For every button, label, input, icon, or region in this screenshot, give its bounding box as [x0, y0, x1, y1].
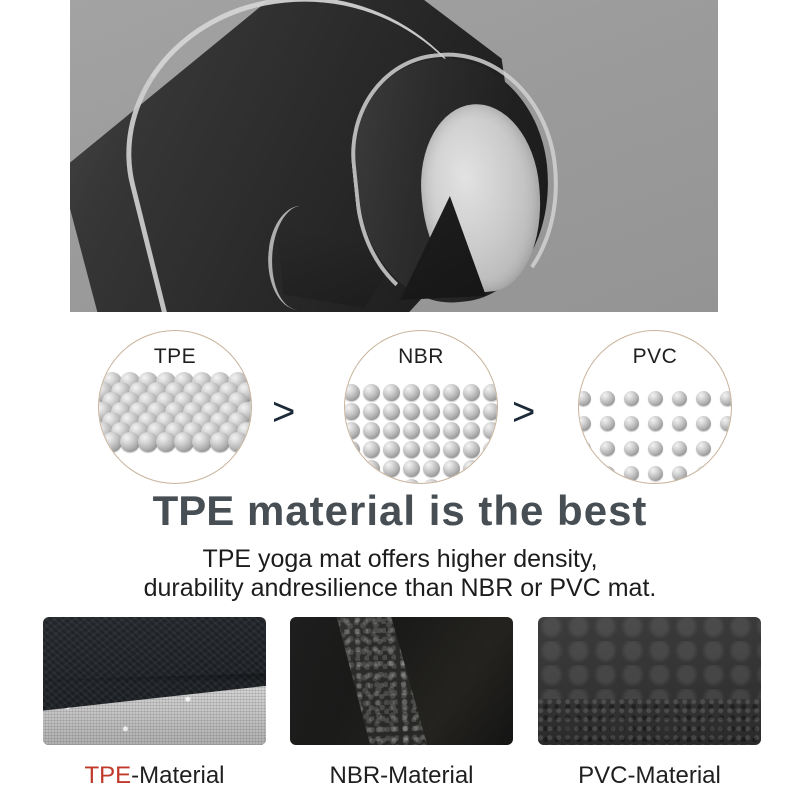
density-sphere — [463, 422, 480, 439]
density-sphere — [483, 460, 499, 477]
density-comparison-row: TPE > NBR > PVC — [0, 330, 800, 488]
density-sphere — [443, 422, 460, 439]
density-sphere — [672, 416, 687, 431]
sphere-row — [99, 435, 251, 449]
sphere-row — [345, 459, 497, 478]
density-sphere — [696, 441, 711, 456]
comparison-chevron-icon-1: > — [272, 392, 295, 432]
sphere-row — [579, 412, 731, 435]
sphere-row — [579, 462, 731, 484]
material-caption-pvc: PVC-Material — [538, 762, 761, 790]
density-sphere — [463, 403, 480, 420]
density-sphere — [648, 416, 663, 431]
sphere-row — [579, 387, 731, 410]
density-sphere — [483, 479, 499, 484]
material-caption-tpe-accent: TPE — [84, 762, 131, 789]
density-sphere — [403, 441, 420, 458]
density-sphere — [672, 466, 687, 481]
density-sphere — [463, 479, 480, 484]
density-sphere — [624, 416, 639, 431]
density-sphere — [720, 441, 733, 456]
material-caption-tpe: TPE-Material — [43, 762, 266, 790]
density-sphere — [403, 422, 420, 439]
density-sphere — [600, 466, 615, 481]
density-sphere — [403, 384, 420, 401]
density-sphere — [344, 460, 360, 477]
density-sphere — [363, 441, 380, 458]
headline-rest: material is the best — [247, 487, 647, 534]
density-circle-label-pvc: PVC — [579, 345, 731, 369]
density-sphere — [600, 416, 615, 431]
density-sphere — [443, 384, 460, 401]
density-sphere — [600, 391, 615, 406]
density-sphere — [696, 416, 711, 431]
density-sphere — [696, 391, 711, 406]
density-sphere — [383, 460, 400, 477]
density-sphere — [600, 441, 615, 456]
density-sphere — [443, 441, 460, 458]
hero-product-photo — [70, 0, 718, 312]
nbr-gloss-highlight — [290, 617, 513, 745]
density-sphere — [383, 479, 400, 484]
density-sphere — [344, 479, 360, 484]
density-sphere — [578, 391, 591, 406]
density-circle-label-nbr: NBR — [345, 345, 497, 369]
density-sphere — [363, 384, 380, 401]
sphere-field-pvc — [579, 385, 731, 483]
density-sphere — [443, 479, 460, 484]
sphere-field-nbr — [345, 383, 497, 483]
density-sphere — [483, 422, 499, 439]
density-sphere — [463, 460, 480, 477]
density-sphere — [363, 422, 380, 439]
density-sphere — [624, 441, 639, 456]
sphere-row — [579, 437, 731, 460]
density-sphere — [138, 432, 158, 452]
density-sphere — [443, 403, 460, 420]
subtitle-line-1: TPE yoga mat offers higher density, — [0, 545, 800, 574]
density-sphere — [423, 441, 440, 458]
density-sphere — [192, 432, 212, 452]
density-sphere — [624, 466, 639, 481]
material-caption-nbr: NBR-Material — [290, 762, 513, 790]
density-sphere — [720, 466, 733, 481]
density-sphere — [720, 416, 733, 431]
density-sphere — [403, 479, 420, 484]
density-sphere — [102, 432, 122, 452]
density-sphere — [383, 422, 400, 439]
density-sphere — [483, 384, 499, 401]
density-sphere — [403, 403, 420, 420]
material-photo-tpe — [43, 617, 266, 745]
density-sphere — [344, 441, 360, 458]
density-sphere — [403, 460, 420, 477]
comparison-chevron-icon-2: > — [512, 392, 535, 432]
density-sphere — [423, 422, 440, 439]
subtitle-line-2: durability andresilience than NBR or PVC… — [0, 574, 800, 603]
density-circle-label-tpe: TPE — [99, 345, 251, 369]
density-sphere — [120, 432, 140, 452]
density-sphere — [624, 391, 639, 406]
sphere-field-tpe — [99, 379, 251, 483]
density-sphere — [578, 416, 591, 431]
density-sphere — [383, 441, 400, 458]
sphere-row — [345, 402, 497, 421]
density-sphere — [463, 384, 480, 401]
sphere-row — [345, 383, 497, 402]
density-sphere — [648, 441, 663, 456]
density-sphere — [383, 384, 400, 401]
sphere-row — [345, 421, 497, 440]
sphere-row — [345, 440, 497, 459]
density-circle-pvc: PVC — [578, 330, 732, 484]
infographic-page: TPE > NBR > PVC TPE material is the best… — [0, 0, 800, 800]
density-sphere — [344, 384, 360, 401]
sphere-row — [345, 478, 497, 484]
density-sphere — [672, 391, 687, 406]
density-sphere — [344, 403, 360, 420]
density-sphere — [363, 403, 380, 420]
material-photo-pvc — [538, 617, 761, 745]
density-sphere — [383, 403, 400, 420]
headline-accent: TPE — [153, 487, 235, 534]
density-sphere — [344, 422, 360, 439]
density-sphere — [156, 432, 176, 452]
density-sphere — [423, 403, 440, 420]
density-sphere — [174, 432, 194, 452]
density-sphere — [423, 479, 440, 484]
density-sphere — [578, 466, 591, 481]
density-sphere — [363, 479, 380, 484]
pvc-pore-band — [538, 699, 761, 745]
density-sphere — [423, 460, 440, 477]
density-sphere — [210, 432, 230, 452]
density-sphere — [423, 384, 440, 401]
density-sphere — [483, 403, 499, 420]
density-sphere — [720, 391, 733, 406]
material-caption-tpe-rest: -Material — [131, 762, 224, 789]
density-sphere — [648, 391, 663, 406]
density-sphere — [578, 441, 591, 456]
material-photo-nbr — [290, 617, 513, 745]
density-circle-nbr: NBR — [344, 330, 498, 484]
density-sphere — [483, 441, 499, 458]
density-sphere — [672, 441, 687, 456]
density-sphere — [443, 460, 460, 477]
headline: TPE material is the best — [0, 487, 800, 535]
density-sphere — [463, 441, 480, 458]
density-sphere — [228, 432, 248, 452]
density-circle-tpe: TPE — [98, 330, 252, 484]
density-sphere — [363, 460, 380, 477]
density-sphere — [648, 466, 663, 481]
density-sphere — [696, 466, 711, 481]
